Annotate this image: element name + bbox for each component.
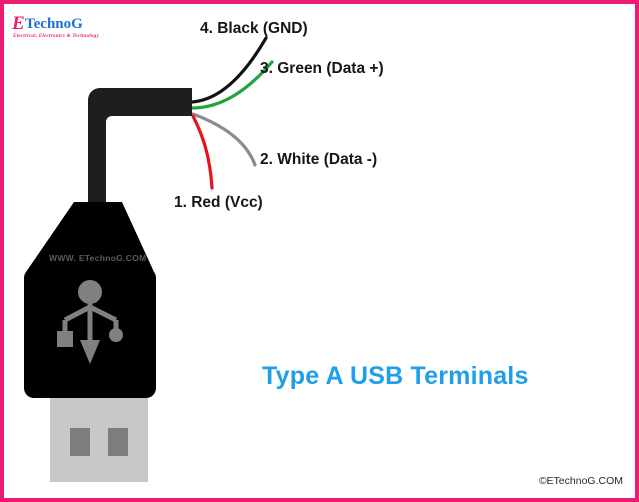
connector-pin-left (70, 428, 90, 456)
wire-label-black: 4. Black (GND) (200, 20, 308, 38)
wire-label-green: 3. Green (Data +) (260, 60, 384, 78)
diagram-frame: E TechnoG Electrical, Electronics & Tech… (0, 0, 639, 502)
wire-path-black (192, 38, 266, 102)
wire-label-red: 1. Red (Vcc) (174, 194, 263, 212)
copyright-notice: ©ETechnoG.COM (539, 475, 623, 487)
connector-pin-right (108, 428, 128, 456)
diagram-title: Type A USB Terminals (262, 362, 529, 391)
wire-path-red (193, 116, 212, 188)
body-watermark: WWW. ETechnoG.COM (49, 253, 147, 263)
wire-label-white: 2. White (Data -) (260, 151, 377, 169)
connector-metal-tip (50, 398, 148, 482)
diagram-canvas: E TechnoG Electrical, Electronics & Tech… (4, 4, 635, 498)
